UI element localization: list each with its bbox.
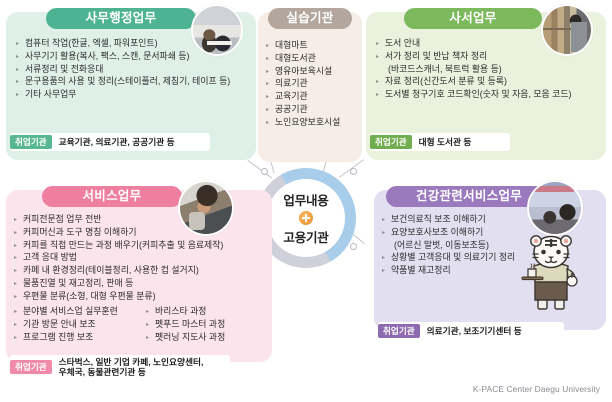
list-item: 대형마트 (266, 40, 362, 52)
employer-value: 교육기관, 의료기관, 공공기관 등 (59, 137, 175, 147)
list-item: 기타 사무업무 (16, 89, 248, 101)
panel-service-employer-strip: 취업기관 스타벅스, 일반 기업 카페, 노인요양센터, 우체국, 동물관련기관… (10, 355, 230, 380)
panel-service-list-right-col: 바리스타 과정 펫푸드 마스터 과정 펫러닝 지도사 과정 (146, 306, 268, 344)
list-item: 기관 방문 안내 보조 (14, 319, 138, 331)
list-item: 자료 정리(신간도서 분류 및 등록) (376, 76, 604, 88)
list-item: 노인요양보호시설 (266, 117, 362, 129)
employer-badge: 취업기관 (10, 360, 52, 374)
list-item: 펫러닝 지도사 과정 (146, 332, 268, 344)
employer-badge: 취업기관 (370, 135, 412, 149)
list-item: 바리스타 과정 (146, 306, 268, 318)
list-item: 프로그램 진행 보조 (14, 332, 138, 344)
employer-value: 의료기관, 보조기기센터 등 (427, 326, 522, 336)
list-item: 고객 응대 방법 (14, 252, 268, 264)
list-item: 의료기관 (266, 78, 362, 90)
panel-library-title-pill: 사서업무 (404, 8, 542, 29)
panel-practicum-title-pill: 실습기관 (268, 8, 352, 29)
panel-service-title: 서비스업무 (82, 189, 141, 203)
list-item: 분야별 서비스업 실무훈련 (14, 306, 138, 318)
list-item: (바코드스캐너, 북트럭 활용 등) (376, 64, 604, 76)
list-item: 물품진열 및 재고정리, 판매 등 (14, 278, 268, 290)
list-item: 서류정리 및 전화응대 (16, 64, 248, 76)
footer-credit: K-PACE Center Daegu University (473, 384, 600, 394)
list-item: 도서별 청구기호 코드확인(숫자 및 자음, 모음 코드) (376, 89, 604, 101)
list-item: 카페 내 환경정리(테이블정리, 사용한 컵 설거지) (14, 265, 268, 277)
panel-practicum-list: 대형마트 대형도서관 영유아보육시설 의료기관 교육기관 공공기관 노인요양보호… (266, 40, 362, 129)
employer-badge: 취업기관 (10, 135, 52, 149)
hub-line-1: 업무내용 (283, 190, 328, 209)
employer-value: 대형 도서관 등 (419, 137, 472, 147)
hub-line-2: 고용기관 (283, 227, 328, 246)
list-item: 커피를 직접 만드는 과정 배우기(커피추출 및 음료제작) (14, 240, 268, 252)
infographic-root: 사무행정업무 컴퓨터 작업(한글, 엑셀, 파워포인트) 사무기기 활용(복사,… (0, 0, 612, 402)
panel-health-title: 건강관련서비스업무 (416, 189, 522, 203)
employer-value: 스타벅스, 일반 기업 카페, 노인요양센터, 우체국, 동물관련기관 등 (59, 357, 204, 378)
office-work-photo (191, 4, 243, 56)
panel-office-employer-strip: 취업기관 교육기관, 의료기관, 공공기관 등 (10, 133, 210, 151)
health-service-photo (527, 180, 583, 236)
panel-office-title-pill: 사무행정업무 (46, 8, 196, 29)
list-item: 공공기관 (266, 104, 362, 116)
employer-badge: 취업기관 (378, 324, 420, 338)
panel-practicum-title: 실습기관 (286, 11, 333, 25)
tiger-mascot (520, 233, 582, 313)
panel-office-title: 사무행정업무 (86, 11, 157, 25)
list-item: 우편물 분류(소형, 대형 우편물 분류) (14, 291, 268, 303)
panel-service-list-left-col: 분야별 서비스업 실무훈련 기관 방문 안내 보조 프로그램 진행 보조 (14, 306, 138, 344)
library-work-photo (541, 4, 593, 56)
list-item: 대형도서관 (266, 53, 362, 65)
list-item: 펫푸드 마스터 과정 (146, 319, 268, 331)
plus-icon (299, 211, 313, 225)
panel-health-employer-strip: 취업기관 의료기관, 보조기기센터 등 (378, 322, 564, 340)
list-item: 교육기관 (266, 91, 362, 103)
list-item: 문구용품의 사용 및 정리(스테이플러, 제침기, 테이프 등) (16, 76, 248, 88)
panel-library-title: 사서업무 (449, 11, 496, 25)
panel-service-title-pill: 서비스업무 (42, 186, 182, 207)
cafe-service-photo (178, 180, 234, 236)
list-item: 영유아보육시설 (266, 66, 362, 78)
panel-library-employer-strip: 취업기관 대형 도서관 등 (370, 133, 510, 151)
